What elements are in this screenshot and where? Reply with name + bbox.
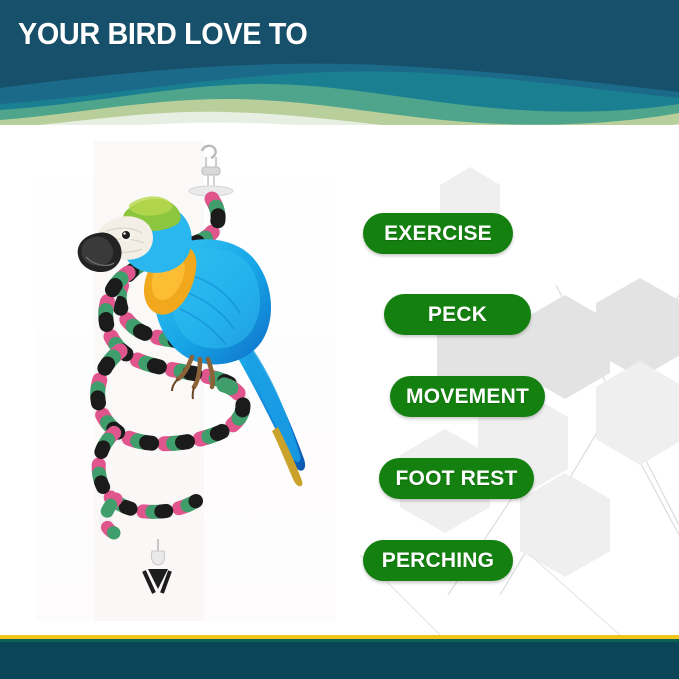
infographic-page: YOUR BIRD LOVE TO (0, 0, 679, 679)
benefit-button-perching[interactable]: PERCHING (363, 540, 513, 581)
benefit-label: MOVEMENT (406, 385, 529, 409)
benefit-label: PECK (428, 303, 487, 327)
page-title: YOUR BIRD LOVE TO (18, 18, 307, 51)
benefit-label: FOOT REST (396, 467, 518, 491)
benefit-button-foot-rest[interactable]: FOOT REST (379, 458, 534, 499)
benefit-button-movement[interactable]: MOVEMENT (390, 376, 545, 417)
header-banner: YOUR BIRD LOVE TO (0, 0, 679, 140)
benefit-button-list: EXERCISE PECK MOVEMENT FOOT REST PERCHIN… (0, 125, 679, 635)
main-content: EXERCISE PECK MOVEMENT FOOT REST PERCHIN… (0, 125, 679, 635)
benefit-label: PERCHING (382, 549, 494, 573)
footer-band (0, 635, 679, 679)
footer-teal-band (0, 642, 679, 679)
benefit-label: EXERCISE (384, 222, 492, 246)
benefit-button-exercise[interactable]: EXERCISE (363, 213, 513, 254)
benefit-button-peck[interactable]: PECK (384, 294, 531, 335)
